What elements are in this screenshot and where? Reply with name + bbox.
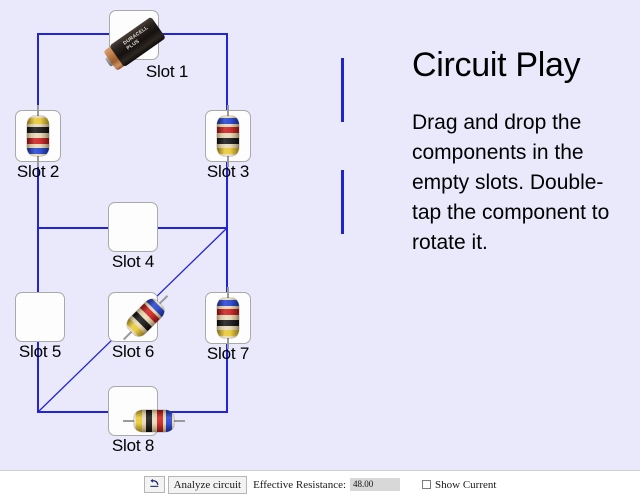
effective-resistance-label: Effective Resistance:	[253, 479, 346, 491]
resistor-band-2	[157, 410, 163, 432]
slot-3-label: Slot 3	[207, 162, 249, 182]
slot-8[interactable]: Slot 8	[107, 386, 159, 436]
slot-4-box[interactable]	[108, 202, 158, 252]
slot-6-label: Slot 6	[112, 342, 154, 362]
effective-resistance-value[interactable]	[350, 478, 400, 491]
slot-6[interactable]: Slot 6	[108, 292, 158, 342]
show-current-label: Show Current	[435, 479, 496, 491]
resistor-band-1	[217, 118, 239, 124]
show-current-toggle[interactable]: Show Current	[422, 479, 496, 491]
resistor-band-4	[217, 148, 239, 154]
slot-7[interactable]: Slot 7	[205, 292, 251, 344]
resistor-body	[27, 116, 49, 156]
resistor-component-8[interactable]	[123, 421, 154, 432]
slot-4[interactable]: Slot 4	[108, 202, 158, 252]
info-panel: Circuit Play Drag and drop the component…	[338, 40, 634, 300]
accent-bar-bottom	[341, 170, 344, 234]
bottom-toolbar: Analyze circuit Effective Resistance: Sh…	[0, 470, 640, 497]
resistor-body	[217, 298, 239, 338]
resistor-band-1	[217, 300, 239, 306]
slot-5[interactable]: Slot 5	[15, 292, 65, 342]
undo-arrow-glyph	[149, 478, 160, 488]
slot-8-label: Slot 8	[112, 436, 154, 456]
resistor-band-3	[27, 138, 49, 144]
resistor-band-1	[27, 118, 49, 124]
toolbar-inner: Analyze circuit Effective Resistance: Sh…	[144, 476, 497, 494]
resistor-band-4	[217, 330, 239, 336]
resistor-band-2	[217, 309, 239, 315]
show-current-checkbox[interactable]	[422, 480, 431, 489]
resistor-band-3	[217, 320, 239, 326]
resistor-band-1	[166, 410, 172, 432]
resistor-band-4	[27, 148, 49, 154]
slot-1[interactable]: + DURACELL PLUS Slot 1	[109, 10, 159, 60]
slot-2-label: Slot 2	[17, 162, 59, 182]
resistor-body	[217, 116, 239, 156]
resistor-band-2	[217, 127, 239, 133]
resistor-band-4	[136, 410, 142, 432]
slot-2[interactable]: Slot 2	[15, 110, 61, 162]
resistor-body	[134, 410, 174, 432]
resistor-band-2	[27, 127, 49, 133]
page-title: Circuit Play	[412, 46, 580, 85]
resistor-band-3	[217, 138, 239, 144]
slot-5-box[interactable]	[15, 292, 65, 342]
slot-1-label: Slot 1	[146, 62, 188, 82]
resistor-band-3	[146, 410, 152, 432]
slot-5-label: Slot 5	[19, 342, 61, 362]
accent-bar-top	[341, 58, 344, 122]
slot-4-label: Slot 4	[112, 252, 154, 272]
analyze-circuit-button[interactable]: Analyze circuit	[168, 476, 248, 494]
circuit-canvas[interactable]: + DURACELL PLUS Slot 1	[0, 0, 640, 470]
instructions-text: Drag and drop the components in the empt…	[412, 108, 622, 258]
circuit-play-app: + DURACELL PLUS Slot 1	[0, 0, 640, 497]
slot-3[interactable]: Slot 3	[205, 110, 251, 162]
undo-arrow-icon[interactable]	[144, 476, 165, 493]
slot-7-label: Slot 7	[207, 344, 249, 364]
